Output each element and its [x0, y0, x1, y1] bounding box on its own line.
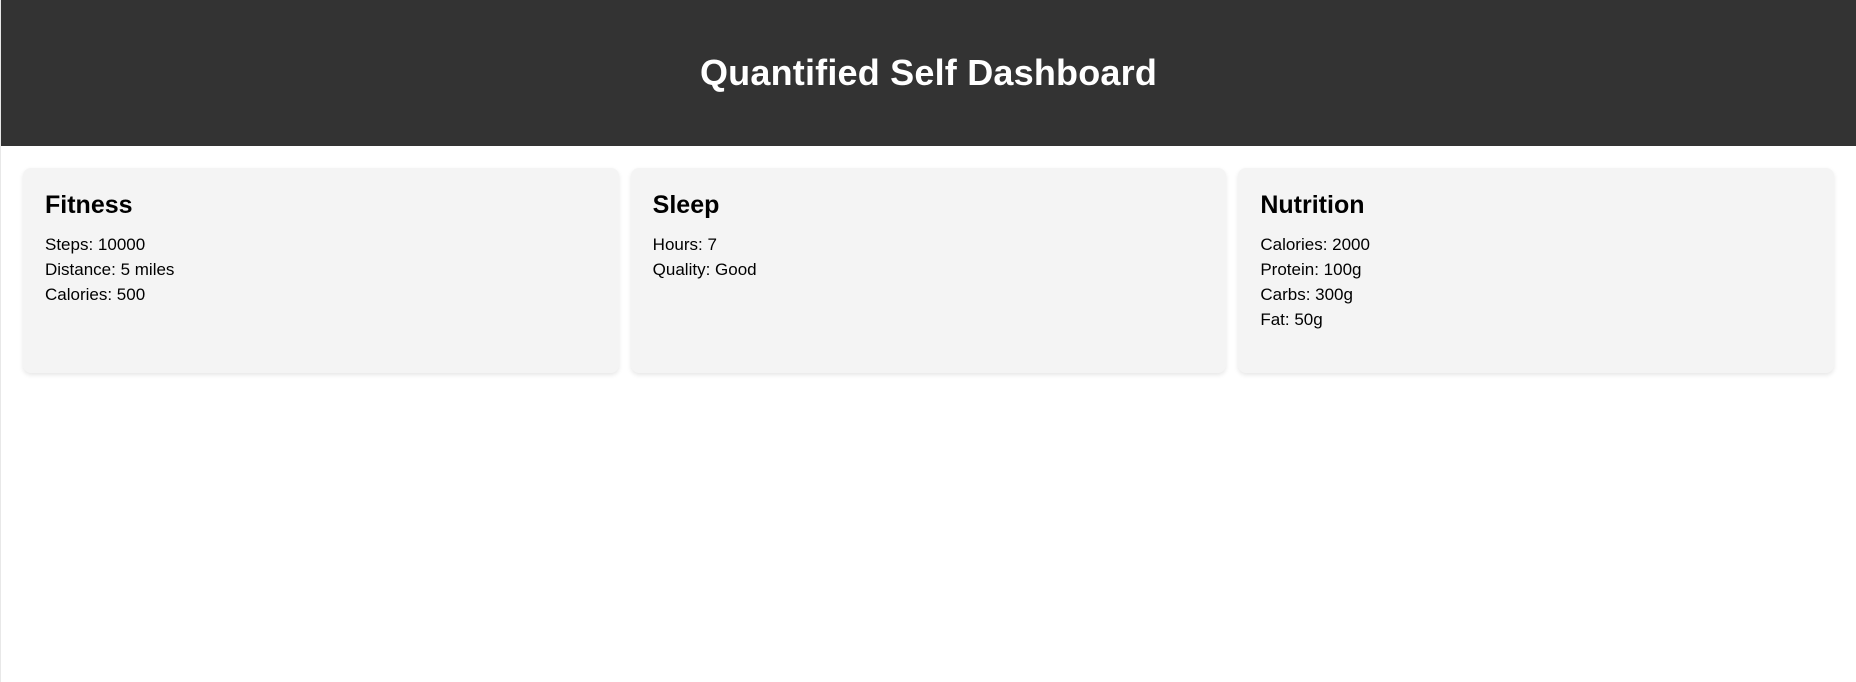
dashboard-main: Fitness Steps: 10000 Distance: 5 miles C… — [1, 146, 1856, 373]
metric-item: Carbs: 300g — [1260, 282, 1812, 307]
card-metrics-nutrition: Calories: 2000 Protein: 100g Carbs: 300g… — [1260, 232, 1812, 332]
metric-item: Quality: Good — [653, 257, 1205, 282]
metric-card-fitness[interactable]: Fitness Steps: 10000 Distance: 5 miles C… — [23, 168, 619, 373]
metric-item: Steps: 10000 — [45, 232, 597, 257]
page-title: Quantified Self Dashboard — [700, 52, 1157, 93]
metric-item: Protein: 100g — [1260, 257, 1812, 282]
card-title-nutrition: Nutrition — [1260, 190, 1812, 220]
metric-item: Hours: 7 — [653, 232, 1205, 257]
card-metrics-sleep: Hours: 7 Quality: Good — [653, 232, 1205, 282]
metric-card-sleep[interactable]: Sleep Hours: 7 Quality: Good — [631, 168, 1227, 373]
card-metrics-fitness: Steps: 10000 Distance: 5 miles Calories:… — [45, 232, 597, 307]
metric-card-row: Fitness Steps: 10000 Distance: 5 miles C… — [23, 168, 1834, 373]
metric-item: Calories: 500 — [45, 282, 597, 307]
card-title-sleep: Sleep — [653, 190, 1205, 220]
metric-item: Fat: 50g — [1260, 307, 1812, 332]
metric-item: Calories: 2000 — [1260, 232, 1812, 257]
page-header: Quantified Self Dashboard — [1, 0, 1856, 146]
metric-item: Distance: 5 miles — [45, 257, 597, 282]
card-title-fitness: Fitness — [45, 190, 597, 220]
metric-card-nutrition[interactable]: Nutrition Calories: 2000 Protein: 100g C… — [1238, 168, 1834, 373]
